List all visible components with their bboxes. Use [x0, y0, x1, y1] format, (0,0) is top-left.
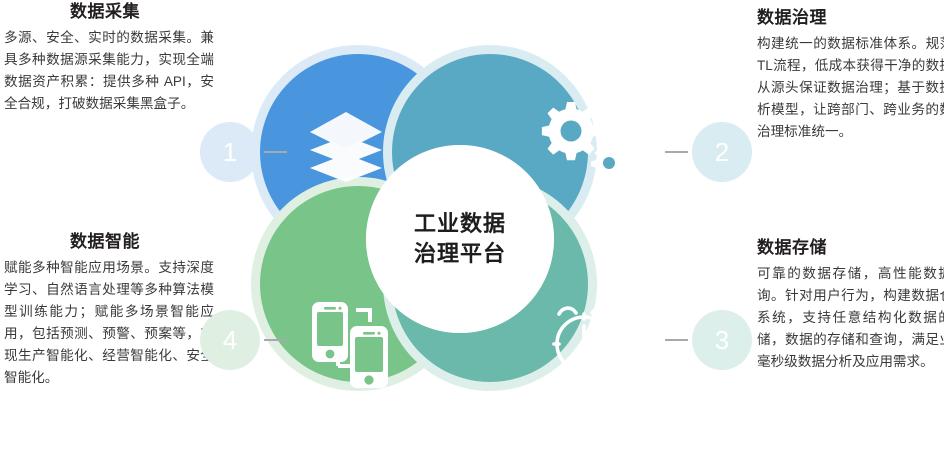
badge-number: 3	[715, 327, 729, 353]
center-label-line1: 工业数据	[414, 209, 506, 239]
block-body-storage: 可靠的数据存储，高性能数据查询。针对用户行为，构建数据仓库系统，支持任意结构化数…	[757, 263, 944, 373]
block-title-govern: 数据治理	[757, 8, 944, 28]
block-title-intel: 数据智能	[4, 232, 214, 252]
badge-number: 1	[223, 139, 237, 165]
block-title-collect: 数据采集	[4, 2, 214, 22]
step-badge-4[interactable]: 4	[205, 315, 255, 365]
text-block-collect: 数据采集 多源、安全、实时的数据采集。兼具多种数据源采集能力，实现全端数据资产积…	[4, 2, 214, 115]
venn-diagram: 工业数据 治理平台 1 2 3 4	[206, 0, 746, 465]
connector-line-2	[665, 151, 688, 153]
badge-number: 4	[223, 327, 237, 353]
block-body-govern: 构建统一的数据标准体系。规范 ETL流程，低成本获得干净的数据，从源头保证数据治…	[757, 33, 944, 143]
block-body-intel: 赋能多种智能应用场景。支持深度学习、自然语言处理等多种算法模型训练能力；赋能多场…	[4, 257, 214, 389]
step-badge-1[interactable]: 1	[205, 127, 255, 177]
connector-line-3	[665, 339, 688, 341]
step-badge-3[interactable]: 3	[697, 315, 747, 365]
badge-number: 2	[715, 139, 729, 165]
text-block-intel: 数据智能 赋能多种智能应用场景。支持深度学习、自然语言处理等多种算法模型训练能力…	[4, 232, 214, 389]
infographic-root: 数据采集 多源、安全、实时的数据采集。兼具多种数据源采集能力，实现全端数据资产积…	[0, 0, 944, 465]
center-label-line2: 治理平台	[414, 239, 506, 269]
block-title-storage: 数据存储	[757, 238, 944, 258]
text-block-storage: 数据存储 可靠的数据存储，高性能数据查询。针对用户行为，构建数据仓库系统，支持任…	[757, 238, 944, 373]
block-body-collect: 多源、安全、实时的数据采集。兼具多种数据源采集能力，实现全端数据资产积累：提供多…	[4, 27, 214, 115]
connector-line-1	[264, 151, 287, 153]
center-label: 工业数据 治理平台	[384, 163, 536, 315]
text-block-govern: 数据治理 构建统一的数据标准体系。规范 ETL流程，低成本获得干净的数据，从源头…	[757, 8, 944, 143]
step-badge-2[interactable]: 2	[697, 127, 747, 177]
connector-line-4	[264, 339, 287, 341]
